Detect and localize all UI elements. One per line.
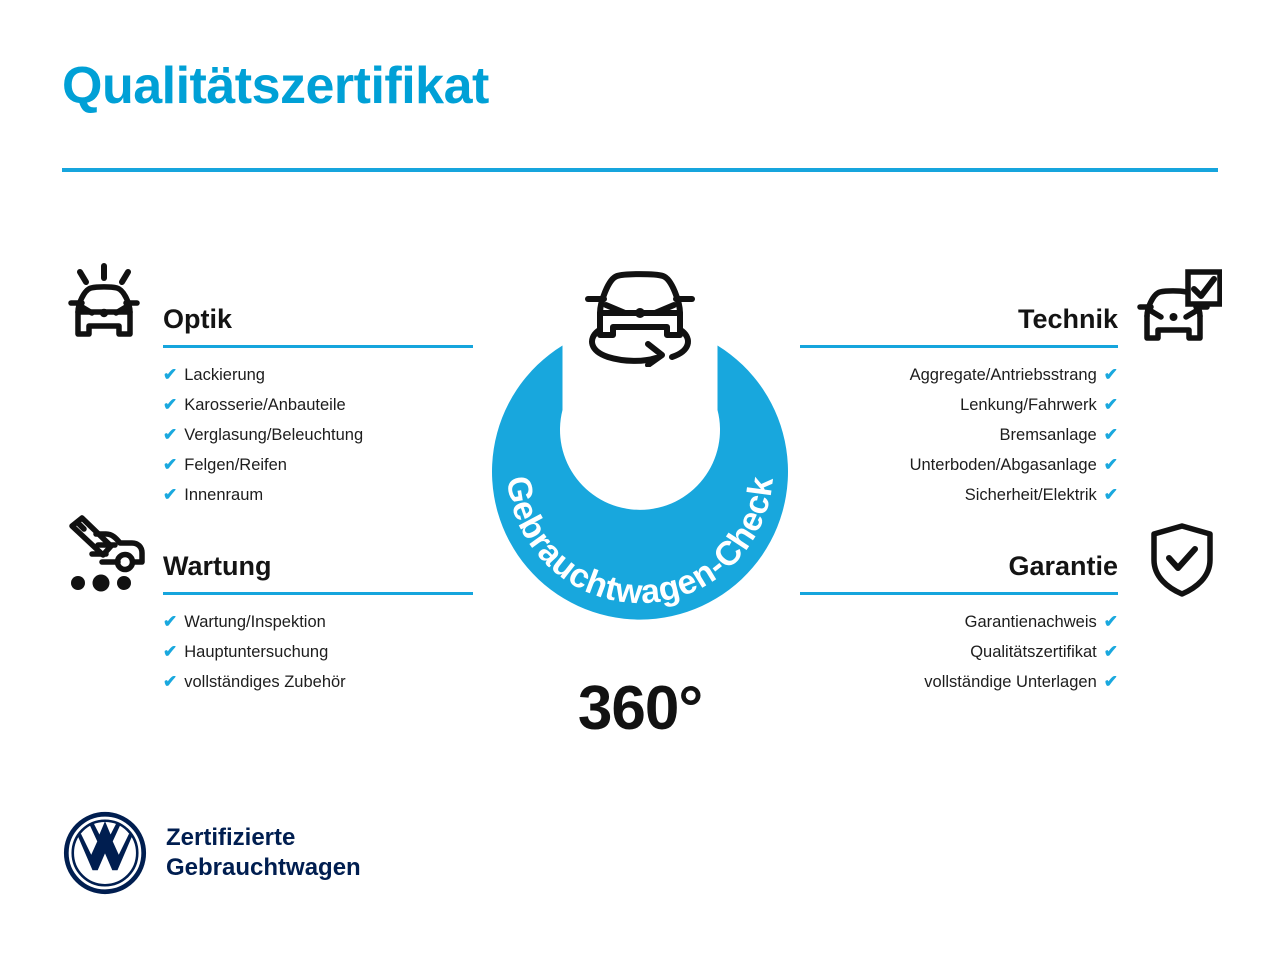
list-item-label: vollständige Unterlagen: [924, 673, 1096, 691]
list-item: ✔Felgen/Reifen: [163, 450, 473, 480]
section-garantie-title: Garantie: [800, 547, 1118, 585]
check-icon: ✔: [163, 642, 177, 661]
check-icon: ✔: [163, 612, 177, 631]
check-icon: ✔: [163, 365, 177, 384]
list-item-label: Lackierung: [184, 366, 265, 384]
check-icon: ✔: [1104, 672, 1118, 691]
car-checkbox-icon: [1136, 268, 1222, 348]
list-item: Aggregate/Antriebsstrang✔: [800, 360, 1118, 390]
section-wartung-list: ✔Wartung/Inspektion ✔Hauptuntersuchung ✔…: [163, 607, 473, 697]
check-icon: ✔: [1104, 612, 1118, 631]
check-icon: ✔: [1104, 365, 1118, 384]
section-garantie-rule: [800, 592, 1118, 595]
list-item-label: Felgen/Reifen: [184, 456, 287, 474]
list-item-label: Wartung/Inspektion: [184, 613, 326, 631]
section-optik-header: Optik: [163, 300, 473, 348]
section-wartung: Wartung ✔Wartung/Inspektion ✔Hauptunters…: [163, 547, 473, 697]
vw-logo-icon: [62, 810, 148, 896]
list-item: ✔Verglasung/Beleuchtung: [163, 420, 473, 450]
list-item-label: Innenraum: [184, 486, 263, 504]
list-item: ✔Karosserie/Anbauteile: [163, 390, 473, 420]
footer-line-2: Gebrauchtwagen: [166, 853, 361, 883]
list-item-label: Unterboden/Abgasanlage: [910, 456, 1097, 474]
car-service-tool-icon: [62, 512, 150, 596]
section-optik-title: Optik: [163, 300, 473, 338]
list-item-label: Verglasung/Beleuchtung: [184, 426, 363, 444]
footer-brand-text: Zertifizierte Gebrauchtwagen: [166, 823, 361, 883]
header-divider: [62, 168, 1218, 172]
section-technik: Technik Aggregate/Antriebsstrang✔ Lenkun…: [800, 300, 1118, 510]
section-optik-list: ✔Lackierung ✔Karosserie/Anbauteile ✔Verg…: [163, 360, 473, 510]
car-shine-icon: [62, 262, 146, 346]
section-garantie: Garantie Garantienachweis✔ Qualitätszert…: [800, 547, 1118, 697]
section-technik-header: Technik: [800, 300, 1118, 348]
list-item: Sicherheit/Elektrik✔: [800, 480, 1118, 510]
list-item-label: Qualitätszertifikat: [970, 643, 1097, 661]
footer-line-1: Zertifizierte: [166, 823, 361, 853]
list-item: Lenkung/Fahrwerk✔: [800, 390, 1118, 420]
section-garantie-header: Garantie: [800, 547, 1118, 595]
badge-360-value: 360°: [463, 674, 817, 744]
section-wartung-rule: [163, 592, 473, 595]
check-icon: ✔: [163, 672, 177, 691]
section-optik: Optik ✔Lackierung ✔Karosserie/Anbauteile…: [163, 300, 473, 510]
list-item: ✔vollständiges Zubehör: [163, 667, 473, 697]
footer-brand: Zertifizierte Gebrauchtwagen: [62, 810, 361, 896]
check-icon: ✔: [1104, 425, 1118, 444]
check-icon: ✔: [163, 455, 177, 474]
check-icon: ✔: [1104, 485, 1118, 504]
check-icon: ✔: [163, 425, 177, 444]
list-item: Bremsanlage✔: [800, 420, 1118, 450]
list-item-label: Lenkung/Fahrwerk: [960, 396, 1097, 414]
list-item: vollständige Unterlagen✔: [800, 667, 1118, 697]
list-item-label: Karosserie/Anbauteile: [184, 396, 345, 414]
list-item-label: Garantienachweis: [965, 613, 1097, 631]
section-wartung-title: Wartung: [163, 547, 473, 585]
badge-360-check: Gebrauchtwagen-Check 360°: [463, 250, 817, 640]
list-item-label: Hauptuntersuchung: [184, 643, 328, 661]
page-title: Qualitätszertifikat: [62, 58, 489, 115]
list-item: ✔Lackierung: [163, 360, 473, 390]
check-icon: ✔: [1104, 455, 1118, 474]
section-garantie-list: Garantienachweis✔ Qualitätszertifikat✔ v…: [800, 607, 1118, 697]
list-item: ✔Wartung/Inspektion: [163, 607, 473, 637]
list-item: Garantienachweis✔: [800, 607, 1118, 637]
section-technik-title: Technik: [800, 300, 1118, 338]
car-rotate-icon: [570, 255, 710, 367]
shield-check-icon: [1148, 522, 1216, 598]
list-item: ✔Innenraum: [163, 480, 473, 510]
section-technik-rule: [800, 345, 1118, 348]
check-icon: ✔: [1104, 642, 1118, 661]
check-icon: ✔: [1104, 395, 1118, 414]
list-item-label: Aggregate/Antriebsstrang: [910, 366, 1097, 384]
section-optik-rule: [163, 345, 473, 348]
section-wartung-header: Wartung: [163, 547, 473, 595]
check-icon: ✔: [163, 395, 177, 414]
list-item: Qualitätszertifikat✔: [800, 637, 1118, 667]
list-item-label: Bremsanlage: [1000, 426, 1097, 444]
list-item: Unterboden/Abgasanlage✔: [800, 450, 1118, 480]
check-icon: ✔: [163, 485, 177, 504]
section-technik-list: Aggregate/Antriebsstrang✔ Lenkung/Fahrwe…: [800, 360, 1118, 510]
list-item-label: Sicherheit/Elektrik: [965, 486, 1097, 504]
list-item: ✔Hauptuntersuchung: [163, 637, 473, 667]
list-item-label: vollständiges Zubehör: [184, 673, 345, 691]
